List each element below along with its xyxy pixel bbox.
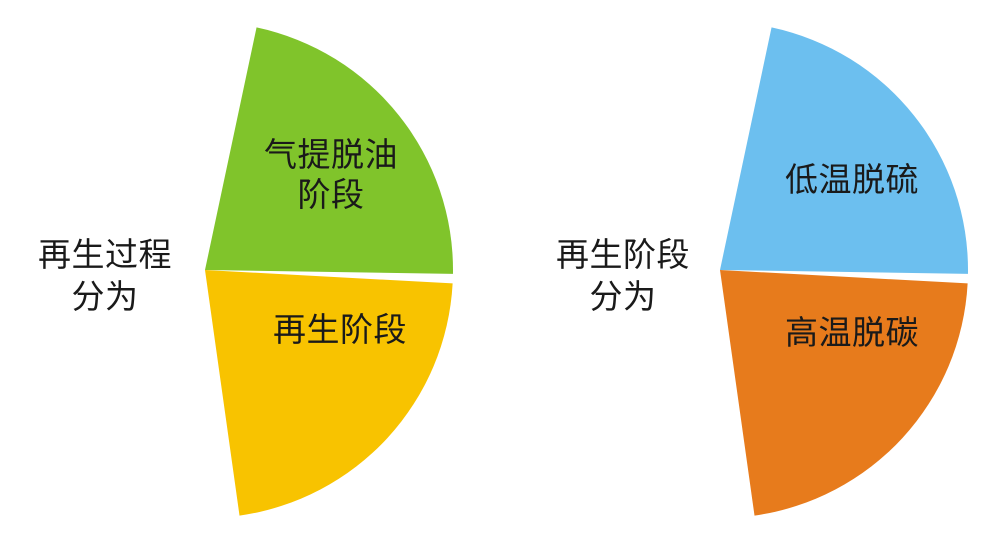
left-chart-caption: 再生过程 分为 — [10, 234, 200, 318]
pie-slice-right-top[interactable] — [720, 27, 968, 273]
right-chart-caption: 再生阶段 分为 — [528, 234, 718, 318]
pie-slice-label-left-top: 气提脱油 阶段 — [236, 135, 426, 216]
pie-slice-right-bottom[interactable] — [720, 270, 968, 516]
pie-slice-left-bottom[interactable] — [205, 270, 453, 516]
pie-slice-label-right-bottom: 高温脱碳 — [752, 313, 952, 353]
pie-slice-label-left-bottom: 再生阶段 — [240, 310, 440, 350]
pie-slice-label-right-top: 低温脱硫 — [752, 160, 952, 200]
diagram-canvas: 再生过程 分为 气提脱油 阶段 再生阶段 再生阶段 分为 低温脱硫 高温脱碳 — [0, 0, 996, 545]
